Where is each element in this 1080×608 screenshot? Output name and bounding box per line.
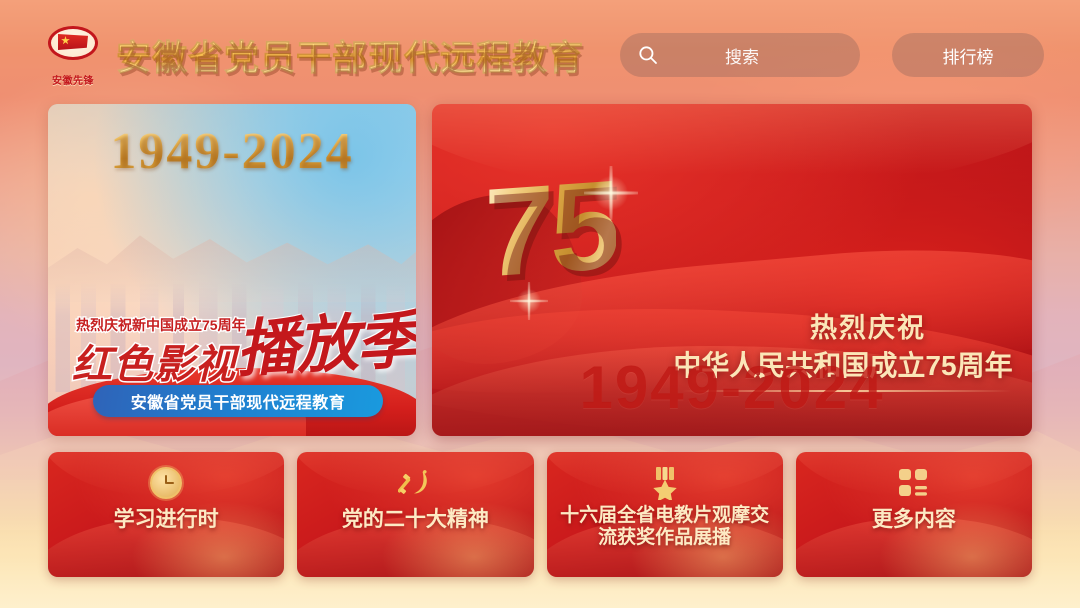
clock-icon: [150, 466, 182, 500]
category-tiles: 学习进行时 党的二十大精神: [48, 452, 1032, 577]
promo-main-title: 红色影视: [72, 332, 236, 390]
banner-big-number: 75: [484, 161, 616, 296]
ranking-button[interactable]: 排行榜: [892, 33, 1044, 77]
hammer-sickle-icon: [398, 466, 432, 500]
promo-ribbon-label: 安徽省党员干部现代远程教育: [93, 385, 383, 417]
promo-card-red-film-season[interactable]: 1949-2024 播放季 热烈庆祝新中国成立75周年 红色影视 安徽省党员干部…: [48, 104, 416, 436]
logo-label: 安徽先锋: [44, 72, 102, 87]
tile-20th-congress-spirit[interactable]: 党的二十大精神: [297, 452, 533, 577]
app-header: 安徽先锋 安徽省党员干部现代远程教育 搜索 排行榜: [44, 20, 1048, 90]
party-emblem-circle-icon[interactable]: 安徽先锋: [44, 24, 102, 86]
medal-star-icon: [649, 466, 681, 500]
tile-label: 十六届全省电教片观摩交流获奖作品展播: [547, 505, 783, 550]
tile-16th-provincial-award-films[interactable]: 十六届全省电教片观摩交流获奖作品展播: [547, 452, 783, 577]
page-title: 安徽省党员干部现代远程教育: [116, 30, 584, 81]
grid-menu-icon: [898, 466, 930, 500]
search-icon: [638, 45, 658, 65]
tile-more-content[interactable]: 更多内容: [796, 452, 1032, 577]
banner-year-range: 1949-2024: [432, 353, 1032, 422]
logo-flag: [58, 34, 88, 50]
promo-brush-title: 播放季: [234, 289, 416, 388]
tile-study-in-progress[interactable]: 学习进行时: [48, 452, 284, 577]
banner-75th-anniversary[interactable]: 75 热烈庆祝 中华人民共和国成立75周年 1949-2024: [432, 104, 1032, 436]
search-placeholder: 搜索: [672, 43, 842, 68]
search-input[interactable]: 搜索: [620, 33, 860, 77]
promo-year-range: 1949-2024: [48, 122, 416, 181]
hero-row: 1949-2024 播放季 热烈庆祝新中国成立75周年 红色影视 安徽省党员干部…: [48, 104, 1032, 436]
tile-label: 学习进行时: [106, 508, 227, 533]
tile-label: 更多内容: [864, 508, 964, 533]
tile-label: 党的二十大精神: [334, 508, 497, 533]
banner-headline-line1: 热烈庆祝: [718, 306, 1018, 345]
